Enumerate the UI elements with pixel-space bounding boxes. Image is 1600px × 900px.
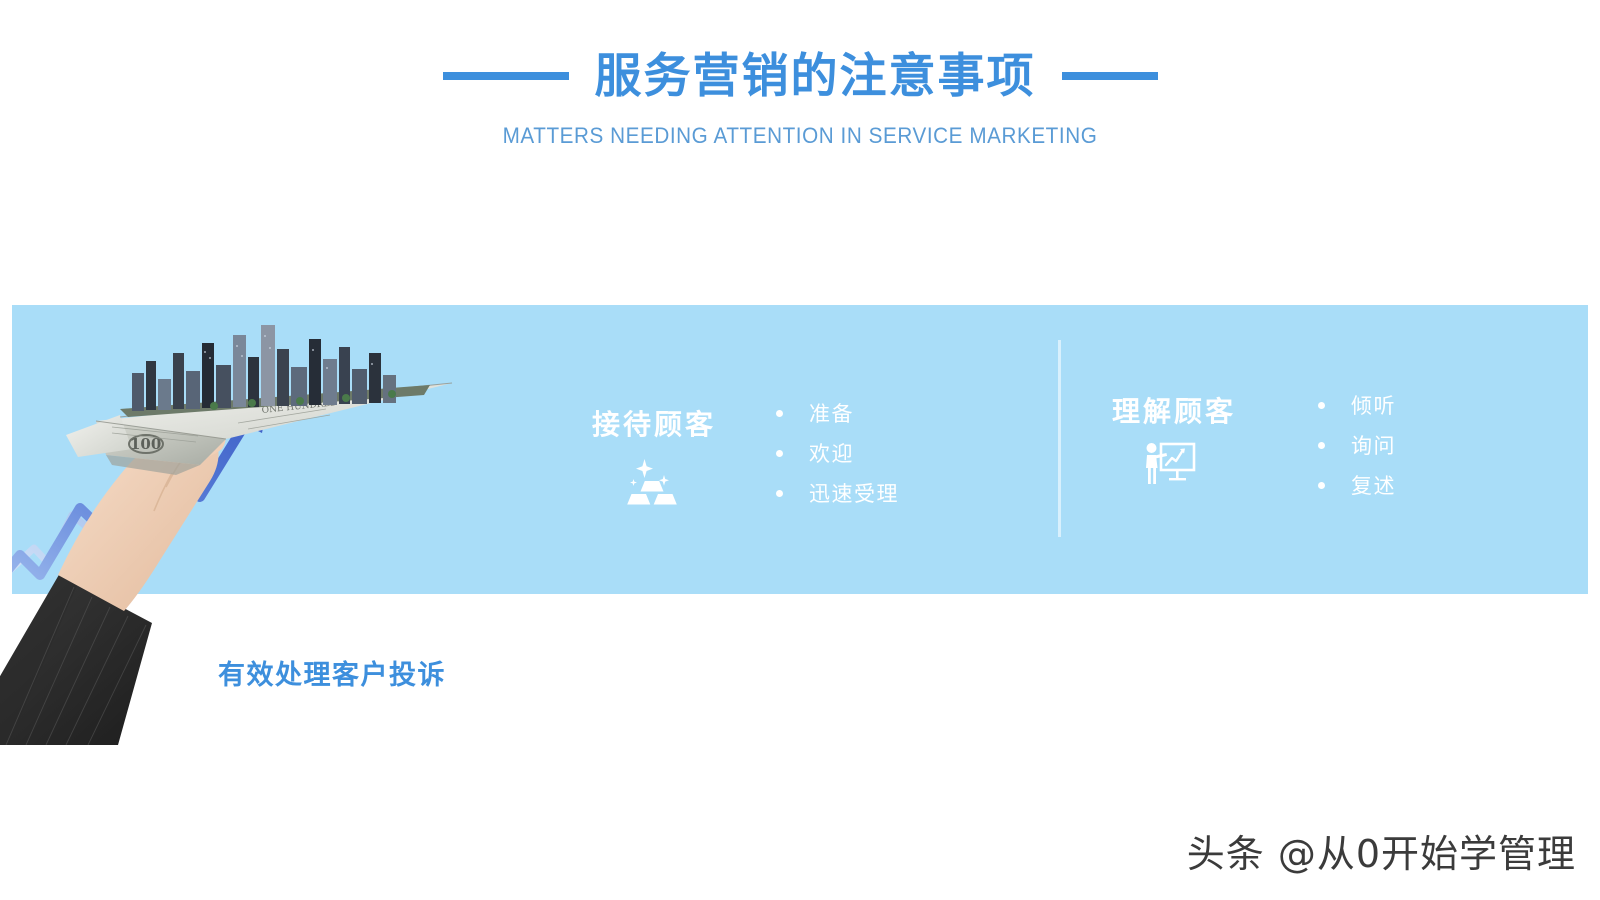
list-item: 迅速受理 <box>776 473 899 513</box>
bullet-dot-icon <box>776 450 783 457</box>
gold-bars-icon <box>622 455 682 507</box>
watermark: 头条 @从0开始学管理 <box>1187 823 1576 878</box>
bullet-label: 倾听 <box>1351 390 1396 420</box>
slide-header: 服务营销的注意事项 MATTERS NEEDING ATTENTION IN S… <box>0 44 1600 149</box>
list-item: 倾听 <box>1318 385 1396 425</box>
list-item: 欢迎 <box>776 433 899 473</box>
title-rule-right-icon <box>1062 72 1158 80</box>
page-subtitle: MATTERS NEEDING ATTENTION IN SERVICE MAR… <box>48 123 1552 149</box>
list-item: 询问 <box>1318 425 1396 465</box>
column-heading-receive-customer: 接待顾客 <box>592 403 716 443</box>
bullet-list-receive-customer: 准备 欢迎 迅速受理 <box>776 393 899 513</box>
content-banner: 接待顾客 准备 <box>12 305 1588 594</box>
bullet-label: 迅速受理 <box>809 478 899 508</box>
slide-canvas: 服务营销的注意事项 MATTERS NEEDING ATTENTION IN S… <box>0 0 1600 900</box>
bullet-label: 复述 <box>1351 470 1396 500</box>
bullet-dot-icon <box>1318 482 1325 489</box>
bullet-dot-icon <box>776 490 783 497</box>
bullet-label: 欢迎 <box>809 438 854 468</box>
title-rule-left-icon <box>443 72 569 80</box>
title-row: 服务营销的注意事项 <box>0 44 1600 108</box>
bullet-list-understand-customer: 倾听 询问 复述 <box>1318 385 1396 505</box>
bullet-label: 询问 <box>1351 430 1396 460</box>
bullet-label: 准备 <box>809 398 854 428</box>
photo-caption: 有效处理客户投诉 <box>218 653 446 692</box>
list-item: 复述 <box>1318 465 1396 505</box>
column-divider <box>1058 340 1061 537</box>
column-heading-understand-customer: 理解顾客 <box>1112 390 1236 430</box>
list-item: 准备 <box>776 393 899 433</box>
column-understand-customer: 理解顾客 <box>1100 305 1570 594</box>
page-title: 服务营销的注意事项 <box>595 53 1036 100</box>
bullet-dot-icon <box>776 410 783 417</box>
bullet-dot-icon <box>1318 442 1325 449</box>
bullet-dot-icon <box>1318 402 1325 409</box>
presenter-chart-icon <box>1138 438 1198 490</box>
column-receive-customer: 接待顾客 准备 <box>580 305 1050 594</box>
